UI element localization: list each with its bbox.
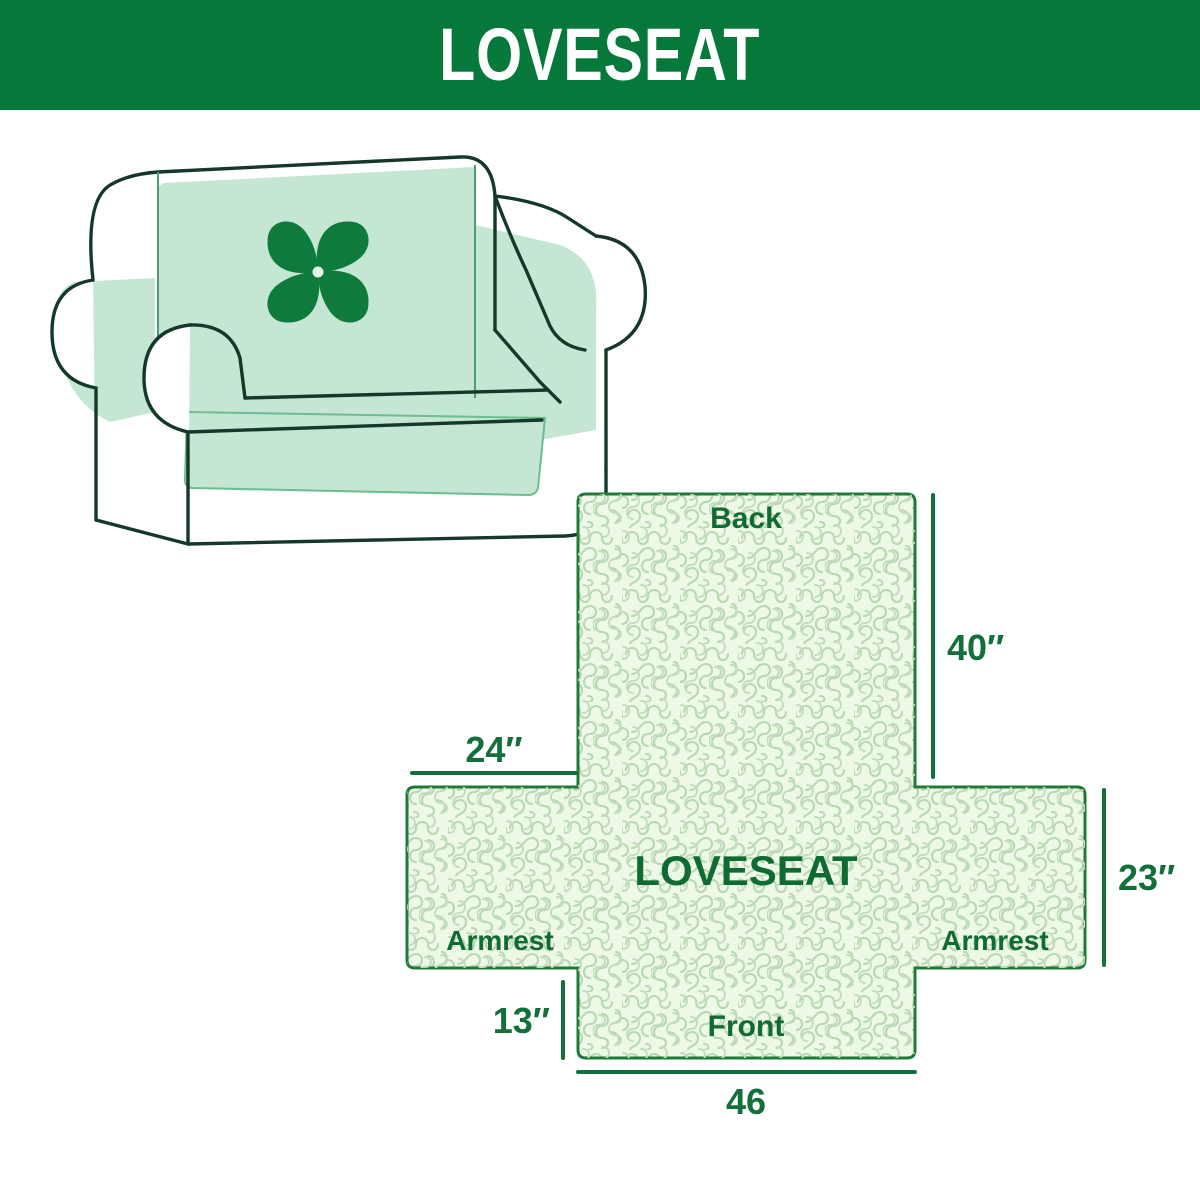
dimension-value-24: 24″ [465,729,522,770]
cover-cross-quilt-overlay [407,494,1085,1058]
panel-label-back: Back [710,502,782,535]
dimension-front-width: 46 [578,1072,915,1122]
dimension-armrest-width: 24″ [412,729,576,773]
dimension-value-13: 13″ [493,1000,550,1041]
header-band: LOVESEAT [0,0,1200,110]
cover-dimension-drawing: Back LOVESEAT Armrest Armrest Front 40″ … [390,470,1200,1130]
cover-outline-group [407,494,1085,1058]
dimension-back-height: 40″ [933,495,1004,777]
dimension-value-40: 40″ [947,627,1004,668]
page-title: LOVESEAT [439,18,760,92]
sofa-right-arm-outer [596,236,645,470]
page-root: LOVESEAT [0,0,1200,1200]
dimension-front-height: 13″ [493,982,563,1058]
panel-label-armrest-right: Armrest [941,925,1048,956]
dimension-value-23: 23″ [1118,857,1175,898]
sofa-left-arm-inner-roll [144,325,190,544]
panel-label-front: Front [708,1010,785,1043]
dimension-center-height: 23″ [1104,790,1175,965]
logo-hub [313,267,324,278]
panel-label-armrest-left: Armrest [446,925,553,956]
dimension-value-46: 46 [726,1081,766,1122]
cover-dimension-diagram: Back LOVESEAT Armrest Armrest Front 40″ … [390,470,1200,1130]
panel-label-center: LOVESEAT [634,847,858,894]
